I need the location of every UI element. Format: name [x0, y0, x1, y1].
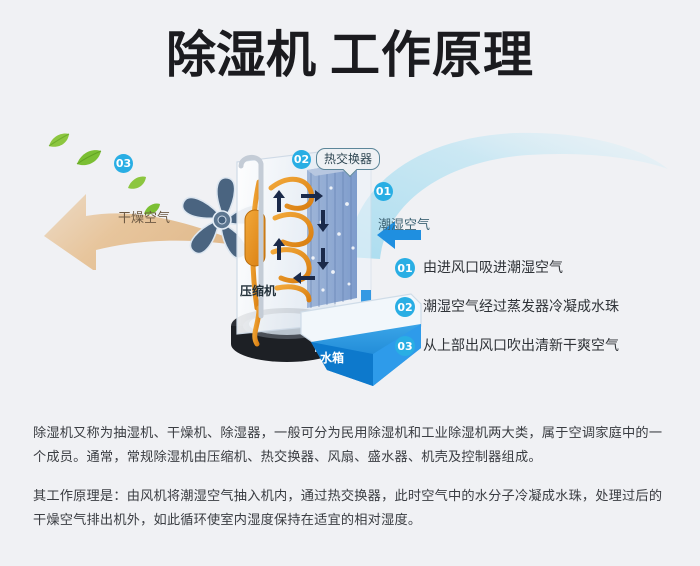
heat-exchanger-label: 热交换器: [316, 148, 380, 170]
humid-air-badge: 01: [374, 182, 393, 201]
list-item: 01 由进风口吸进潮湿空气: [395, 258, 690, 278]
step-badge: 02: [395, 297, 415, 317]
leaf-icon: [48, 132, 70, 150]
heat-exchanger-callout: 02 热交换器: [292, 148, 380, 170]
list-item: 02 潮湿空气经过蒸发器冷凝成水珠: [395, 297, 690, 317]
infographic-page: 除湿机工作原理: [0, 0, 700, 566]
humid-air-badge-group: 01: [374, 180, 393, 201]
heat-exchanger-badge: 02: [292, 150, 311, 169]
description-paragraph-1: 除湿机又称为抽湿机、干燥机、除湿器，一般可分为民用除湿机和工业除湿机两大类，属于…: [33, 422, 673, 471]
step-badge: 03: [395, 336, 415, 356]
steps-list: 01 由进风口吸进潮湿空气 02 潮湿空气经过蒸发器冷凝成水珠 03 从上部出风…: [395, 258, 690, 375]
title-part-two: 工作原理: [330, 26, 534, 84]
water-tank-label: 水箱: [320, 349, 344, 366]
title-part-one: 除湿机: [166, 26, 316, 84]
step-badge: 01: [395, 258, 415, 278]
description-paragraph-2: 其工作原理是：由风机将潮湿空气抽入机内，通过热交换器，此时空气中的水分子冷凝成水…: [33, 485, 673, 534]
step-text: 由进风口吸进潮湿空气: [423, 260, 563, 277]
leaf-icon: [76, 148, 102, 168]
humid-air-label: 潮湿空气: [378, 214, 430, 233]
dry-air-label: 干燥空气: [118, 207, 170, 226]
page-title: 除湿机工作原理: [0, 30, 700, 80]
dry-air-badge: 03: [114, 154, 133, 173]
step-text: 潮湿空气经过蒸发器冷凝成水珠: [423, 299, 619, 316]
list-item: 03 从上部出风口吹出清新干爽空气: [395, 336, 690, 356]
leaf-icon: [127, 175, 147, 192]
description-block: 除湿机又称为抽湿机、干燥机、除湿器，一般可分为民用除湿机和工业除湿机两大类，属于…: [33, 422, 673, 534]
step-text: 从上部出风口吹出清新干爽空气: [423, 338, 619, 355]
dry-air-badge-group: 03: [114, 152, 133, 173]
compressor-label: 压缩机: [240, 282, 276, 299]
